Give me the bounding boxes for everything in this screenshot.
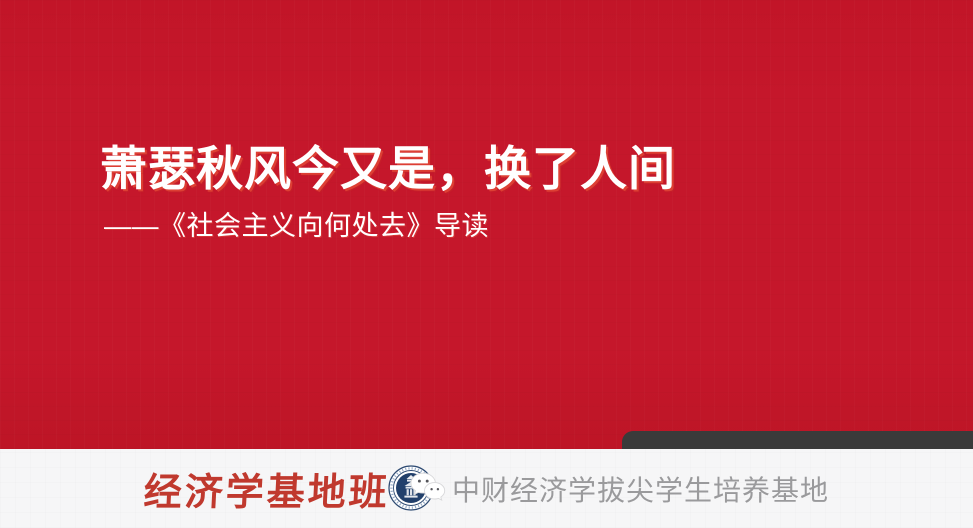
page-title: 萧瑟秋风今又是，换了人间: [100, 143, 900, 196]
title-block: 萧瑟秋风今又是，换了人间 ——《社会主义向何处去》导读: [100, 143, 900, 243]
brand-tagline: 中财经济学拔尖学生培养基地: [452, 469, 829, 509]
slide-canvas: 萧瑟秋风今又是，换了人间 ——《社会主义向何处去》导读 经济学基地班: [0, 0, 973, 528]
wechat-bubbles-icon: [410, 471, 446, 505]
footer-band: 经济学基地班: [0, 449, 973, 528]
page-subtitle: ——《社会主义向何处去》导读: [104, 210, 900, 244]
footer-content: 经济学基地班: [0, 449, 973, 528]
accent-bar: [622, 431, 973, 449]
logo-cluster: [388, 463, 446, 515]
brand-name: 经济学基地班: [143, 461, 392, 516]
